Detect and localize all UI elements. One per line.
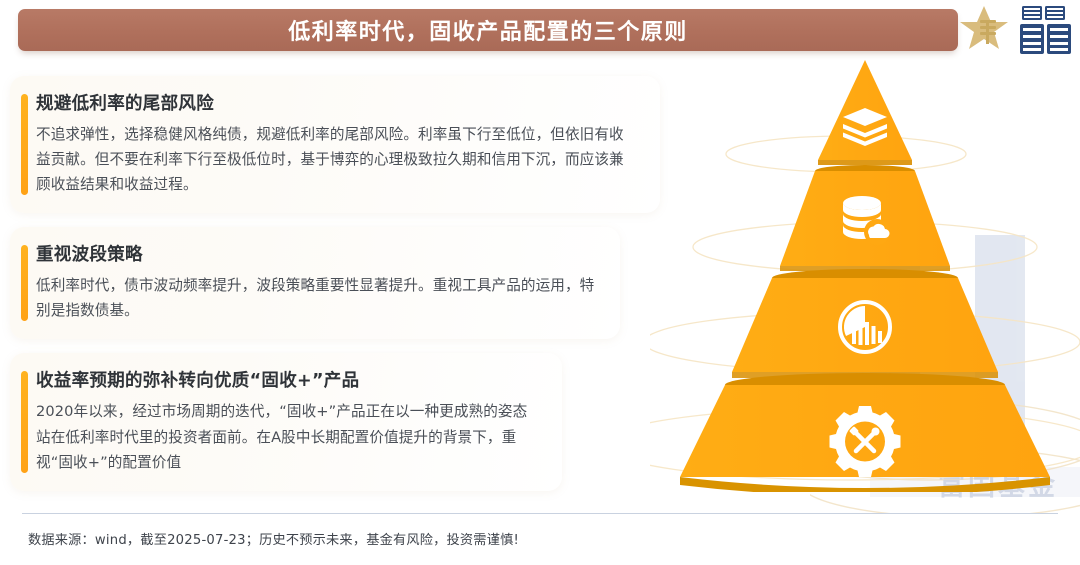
infographic-root: 富国基金 低利率时代，固收产品配置的三个原则 bbox=[0, 0, 1080, 565]
principle-body: 不追求弹性，选择稳健风格纯债，规避低利率的尾部风险。利率虽下行至低位，但依旧有收… bbox=[36, 122, 638, 197]
header: 低利率时代，固收产品配置的三个原则 bbox=[0, 0, 1080, 62]
footer-disclaimer: 数据来源：wind，截至2025-07-23；历史不预示未来，基金有风险，投资需… bbox=[28, 529, 519, 548]
brand-logo bbox=[960, 2, 1072, 58]
pyramid-tier-4 bbox=[680, 373, 1050, 492]
pyramid-tier-3 bbox=[732, 269, 998, 378]
principle-card-3: 收益率预期的弥补转向优质“固收+”产品 2020年以来，经过市场周期的迭代，“固… bbox=[10, 353, 562, 490]
gear-tools-icon bbox=[830, 406, 901, 477]
page-title: 低利率时代，固收产品配置的三个原则 bbox=[288, 14, 688, 46]
pyramid-tier-2 bbox=[780, 165, 950, 271]
principle-card-2: 重视波段策略 低利率时代，债市波动频率提升，波段策略重要性显著提升。重视工具产品… bbox=[10, 227, 620, 339]
principle-title: 规避低利率的尾部风险 bbox=[36, 90, 638, 115]
footer-divider bbox=[22, 513, 1058, 514]
principle-card-1: 规避低利率的尾部风险 不追求弹性，选择稳健风格纯债，规避低利率的尾部风险。利率虽… bbox=[10, 76, 660, 213]
principle-title: 重视波段策略 bbox=[36, 241, 598, 266]
footer: 数据来源：wind，截至2025-07-23；历史不预示未来，基金有风险，投资需… bbox=[0, 513, 1080, 565]
principle-body: 低利率时代，债市波动频率提升，波段策略重要性显著提升。重视工具产品的运用，特别是… bbox=[36, 273, 598, 323]
title-bar: 低利率时代，固收产品配置的三个原则 bbox=[18, 9, 958, 51]
principles-list: 规避低利率的尾部风险 不追求弹性，选择稳健风格纯债，规避低利率的尾部风险。利率虽… bbox=[10, 76, 670, 505]
pyramid-tier-1 bbox=[818, 60, 912, 165]
pyramid-diagram bbox=[650, 52, 1080, 492]
principle-body: 2020年以来，经过市场周期的迭代，“固收+”产品正在以一种更成熟的姿态站在低利… bbox=[36, 399, 540, 474]
principle-title: 收益率预期的弥补转向优质“固收+”产品 bbox=[36, 367, 540, 392]
